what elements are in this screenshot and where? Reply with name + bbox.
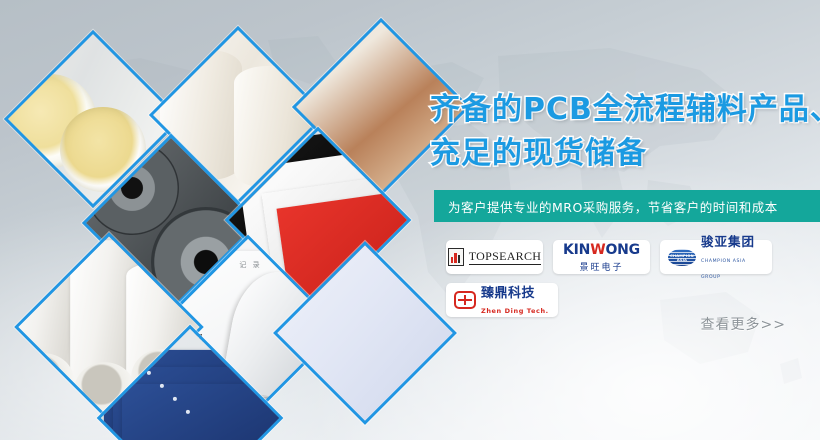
- partner-logo-champion-asia[interactable]: 骏亚集团 CHAMPION ASIA GROUP: [660, 240, 772, 274]
- kinwong-label-part-b: ONG: [605, 242, 640, 258]
- partner-logo-row-2: 臻鼎科技 Zhen Ding Tech.: [446, 283, 820, 317]
- zhen-ding-lockup: 臻鼎科技 Zhen Ding Tech.: [481, 284, 550, 316]
- champion-asia-label-cn: 骏亚集团: [701, 234, 755, 249]
- zhen-ding-tagline: Zhen Ding Tech.: [481, 307, 549, 315]
- promo-banner: 记 录 JIE 齐备的: [0, 0, 820, 440]
- kinwong-label-part-w: W: [590, 242, 605, 258]
- headline: 齐备的PCB全流程辅料产品、 充足的现货储备: [430, 88, 820, 176]
- globe-icon: [668, 249, 696, 266]
- kinwong-lockup: KINWONG 景旺电子: [561, 241, 642, 273]
- label-sheet-mark: 记 录: [239, 259, 261, 269]
- topsearch-label: TOPSEARCH: [469, 250, 542, 265]
- partner-logo-kinwong[interactable]: KINWONG 景旺电子: [553, 240, 650, 274]
- zhending-square-icon: [454, 291, 476, 309]
- banner-content: 齐备的PCB全流程辅料产品、 充足的现货储备 为客户提供专业的MRO采购服务，节…: [420, 0, 820, 440]
- kinwong-label-en: KINWONG: [563, 242, 640, 258]
- partner-logo-zhen-ding[interactable]: 臻鼎科技 Zhen Ding Tech.: [446, 283, 558, 317]
- champion-asia-tagline: CHAMPION ASIA GROUP: [701, 259, 746, 280]
- product-collage: 记 录 JIE: [0, 0, 430, 440]
- topsearch-bars-icon: [448, 248, 464, 266]
- champion-asia-lockup: 骏亚集团 CHAMPION ASIA GROUP: [701, 233, 764, 281]
- kinwong-label-part-a: KIN: [563, 242, 590, 258]
- subtitle-text: 为客户提供专业的MRO采购服务，节省客户的时间和成本: [448, 197, 778, 216]
- headline-line-2: 充足的现货储备: [430, 132, 820, 176]
- headline-line-1: 齐备的PCB全流程辅料产品、: [430, 88, 820, 132]
- zhen-ding-label-cn: 臻鼎科技: [481, 285, 535, 300]
- view-more-link[interactable]: 查看更多>>: [701, 314, 786, 334]
- partner-logo-topsearch[interactable]: TOPSEARCH: [446, 240, 543, 274]
- kinwong-label-cn: 景旺电子: [579, 263, 623, 273]
- partner-logo-row-1: TOPSEARCH KINWONG 景旺电子 骏亚集团 CHAMPION ASI…: [446, 240, 820, 274]
- subtitle-bar: 为客户提供专业的MRO采购服务，节省客户的时间和成本: [434, 190, 820, 222]
